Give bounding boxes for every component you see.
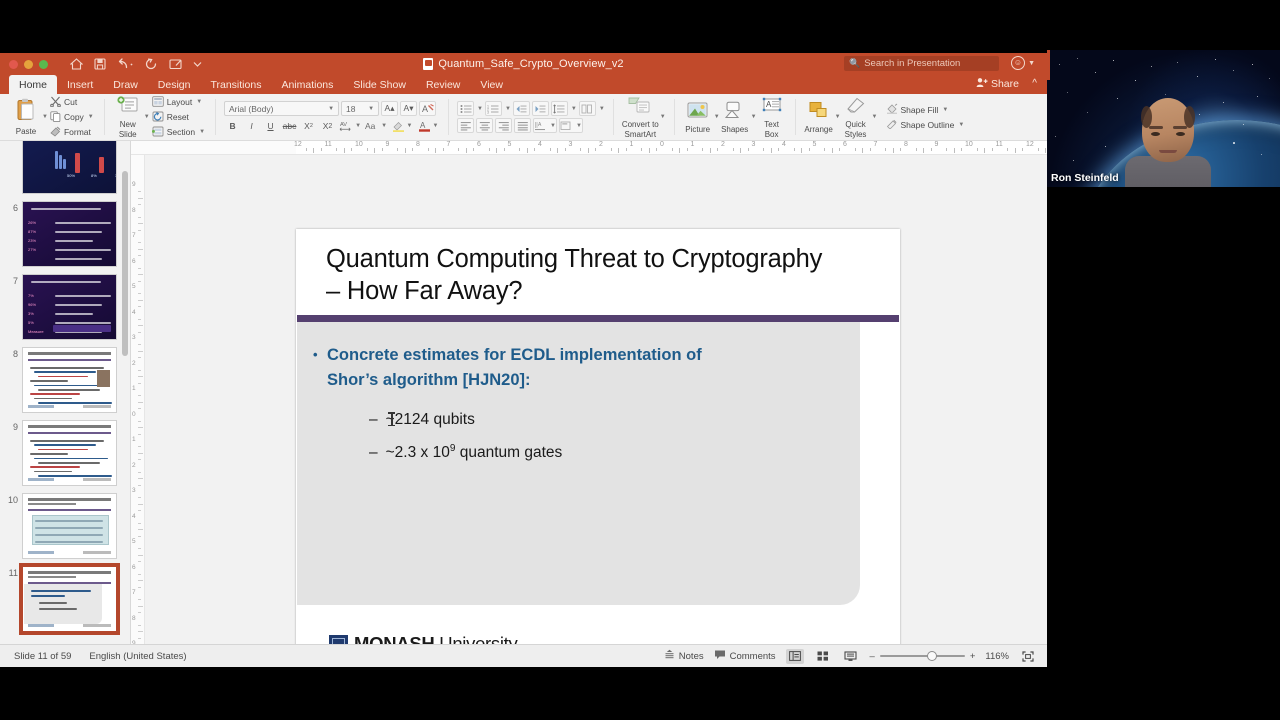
collapse-ribbon-icon[interactable]: ^ xyxy=(1032,78,1037,89)
thumbnail-table-row xyxy=(35,520,103,522)
thumbnail-footer xyxy=(83,405,111,408)
star xyxy=(1077,58,1078,59)
ruler-tick xyxy=(1022,148,1023,151)
line-spacing-caret-icon[interactable]: ▼ xyxy=(571,106,577,112)
ribbon-group-paragraph: ▼ 123 ▼ ▼ xyxy=(452,94,610,140)
redo-icon[interactable] xyxy=(145,58,158,70)
ruler-label: 12 xyxy=(294,141,302,148)
vertical-ruler-label: 3 xyxy=(132,334,136,341)
cut-button[interactable]: Cut xyxy=(48,96,96,109)
vertical-ruler-label: 6 xyxy=(132,258,136,265)
sub-bullet-text-2a: ~2.3 x 10 xyxy=(386,444,450,461)
thumbnail-line xyxy=(34,371,96,373)
ribbon-separator-1 xyxy=(104,99,105,135)
ribbon-group-arrange: Arrange ▼ Quick Styles ▼ xyxy=(799,94,972,140)
tab-home[interactable]: Home xyxy=(9,75,57,94)
ruler-tick xyxy=(550,148,551,151)
font-size-caret-icon[interactable]: ▼ xyxy=(368,106,374,112)
align-left-button[interactable] xyxy=(457,118,474,133)
ruler-tick xyxy=(870,148,871,151)
participant-video-panel[interactable]: Ron Steinfeld xyxy=(1047,50,1280,235)
ruler-tick xyxy=(923,148,924,153)
italic-button[interactable]: I xyxy=(243,118,260,133)
current-slide[interactable]: Quantum Computing Threat to Cryptography… xyxy=(296,229,900,667)
convert-to-smartart-icon xyxy=(628,95,652,119)
ruler-tick xyxy=(771,148,772,153)
home-icon[interactable] xyxy=(70,58,83,70)
thumbnail-row[interactable]: 8 xyxy=(0,347,131,413)
picture-button[interactable]: Picture xyxy=(683,94,713,140)
slide-thumbnail-6[interactable]: 26%87%23%27% xyxy=(22,201,117,267)
ribbon-separator-5 xyxy=(674,99,675,135)
convert-to-smartart-label-1: Convert to xyxy=(622,120,659,129)
text-box-label-2: Box xyxy=(765,130,779,139)
underline-button[interactable]: U xyxy=(262,118,279,133)
thumbnail-accent-rule xyxy=(28,359,111,361)
bullet-level1-line2: Shor’s algorithm [HJN20]: xyxy=(327,368,820,393)
font-color-caret-icon[interactable]: ▼ xyxy=(433,123,439,129)
vertical-ruler-tick xyxy=(138,580,143,581)
video-letterbox xyxy=(1047,187,1280,235)
vertical-ruler-tick xyxy=(138,638,141,639)
increase-indent-button[interactable] xyxy=(532,101,549,116)
slide-bullet-level2-qubits[interactable]: –~2124 qubits xyxy=(369,409,475,431)
thumbnail-text: Measure xyxy=(28,329,44,334)
thumbnail-line xyxy=(31,590,91,592)
vertical-ruler-tick xyxy=(138,383,141,384)
vertical-ruler-tick xyxy=(138,485,141,486)
ruler-label: 8 xyxy=(416,141,420,148)
change-case-button[interactable]: Aa ▼ xyxy=(364,118,388,133)
ruler-tick xyxy=(489,148,490,151)
vertical-ruler-tick xyxy=(138,625,141,626)
vertical-ruler-tick xyxy=(138,478,143,479)
quick-styles-label-2: Styles xyxy=(845,130,867,139)
vertical-ruler-label: 3 xyxy=(132,487,136,494)
font-size-select[interactable]: 18 ▼ xyxy=(341,101,379,116)
quick-access-toolbar[interactable] xyxy=(70,58,202,70)
powerpoint-window: Quantum_Safe_Crypto_Overview_v2 🔍 ☺ ▼ Ho… xyxy=(0,53,1047,667)
copy-icon xyxy=(50,111,61,124)
ruler-tick xyxy=(961,148,962,151)
copy-dropdown-caret-icon[interactable]: ▼ xyxy=(88,114,94,120)
zoom-button[interactable] xyxy=(39,60,48,69)
ribbon-tab-bar[interactable]: Home Insert Draw Design Transitions Anim… xyxy=(0,75,1047,94)
decrease-indent-button[interactable] xyxy=(513,101,530,116)
reset-icon xyxy=(152,111,164,124)
tab-transitions[interactable]: Transitions xyxy=(200,75,271,94)
vertical-ruler-tick xyxy=(138,421,141,422)
star xyxy=(1151,66,1152,67)
clear-formatting-button[interactable]: A xyxy=(419,101,436,116)
slide-bullet-level1[interactable]: • Concrete estimates for ECDL implementa… xyxy=(327,343,820,392)
thumbnail-row[interactable]: 10 xyxy=(0,493,131,559)
ribbon-group-font: Arial (Body) ▼ 18 ▼ A▴ A▾ A xyxy=(219,94,445,140)
vertical-ruler-tick xyxy=(138,529,143,530)
vertical-ruler-label: 1 xyxy=(132,436,136,443)
vertical-ruler-tick xyxy=(138,504,143,505)
vertical-ruler-tick xyxy=(138,408,141,409)
character-spacing-caret-icon[interactable]: ▼ xyxy=(355,123,361,129)
window-controls[interactable] xyxy=(9,60,48,69)
ruler-tick xyxy=(1007,148,1008,151)
vertical-ruler-tick xyxy=(138,510,141,511)
quick-styles-label-1: Quick xyxy=(845,120,865,129)
slide-counter[interactable]: Slide 11 of 59 xyxy=(14,651,71,662)
zoom-track[interactable] xyxy=(880,655,965,657)
copy-button[interactable]: Copy ▼ xyxy=(48,111,96,124)
vertical-ruler[interactable]: 9876543210123456789 xyxy=(131,155,145,644)
picture-label: Picture xyxy=(685,125,710,134)
zoom-knob[interactable] xyxy=(927,651,937,661)
vertical-ruler-label: 7 xyxy=(132,232,136,239)
vertical-ruler-tick xyxy=(138,446,141,447)
bullets-button[interactable] xyxy=(457,101,474,116)
font-name-select[interactable]: Arial (Body) ▼ xyxy=(224,101,339,116)
screen-root: Quantum_Safe_Crypto_Overview_v2 🔍 ☺ ▼ Ho… xyxy=(0,0,1280,720)
ruler-tick xyxy=(900,148,901,151)
bold-button[interactable]: B xyxy=(224,118,241,133)
text-direction-button[interactable]: A ▼ xyxy=(533,118,557,133)
ruler-tick xyxy=(839,148,840,151)
comments-button[interactable]: Comments xyxy=(714,649,776,663)
ruler-tick xyxy=(916,148,917,151)
ruler-tick xyxy=(519,148,520,151)
ruler-tick xyxy=(351,148,352,151)
vertical-ruler-tick xyxy=(138,344,141,345)
zoom-level[interactable]: 116% xyxy=(985,651,1009,662)
text-direction-caret-icon[interactable]: ▼ xyxy=(550,123,556,129)
star xyxy=(1223,102,1224,103)
status-left: Slide 11 of 59 English (United States) xyxy=(14,651,187,662)
thumbnail-row[interactable]: 9 xyxy=(0,420,131,486)
slide-canvas[interactable]: Quantum Computing Threat to Cryptography… xyxy=(145,155,1047,644)
justify-button[interactable] xyxy=(514,118,531,133)
format-painter-button[interactable]: Format xyxy=(48,126,96,139)
thumbnail-text: 7% xyxy=(28,293,34,298)
tab-design[interactable]: Design xyxy=(148,75,201,94)
change-case-caret-icon[interactable]: ▼ xyxy=(381,123,387,129)
slide-bullet-level2-gates[interactable]: –~2.3 x 109 quantum gates xyxy=(369,438,562,464)
ruler-tick xyxy=(717,148,718,151)
tab-slide-show[interactable]: Slide Show xyxy=(343,75,416,94)
zoom-in-button[interactable]: + xyxy=(970,651,976,662)
thumbnail-row[interactable]: 550%8%3% xyxy=(0,141,131,194)
share-label: Share xyxy=(991,78,1019,90)
ruler-tick xyxy=(687,148,688,151)
thumbnail-text: 8% xyxy=(91,173,97,178)
paragraph-row-bottom: A ▼ ▼ xyxy=(457,118,605,133)
thumbnail-bar xyxy=(63,159,66,169)
ruler-tick xyxy=(862,148,863,153)
thumbnail-line xyxy=(55,240,93,242)
thumbnail-row[interactable]: 626%87%23%27% xyxy=(0,201,131,267)
star xyxy=(1073,160,1074,161)
thumbnail-footer xyxy=(83,624,111,627)
shrink-font-button[interactable]: A▾ xyxy=(400,101,417,116)
character-spacing-button[interactable]: AV ▼ xyxy=(338,118,362,133)
star xyxy=(1197,76,1198,77)
layout-dropdown-caret-icon[interactable]: ▼ xyxy=(196,99,202,105)
tab-draw[interactable]: Draw xyxy=(103,75,148,94)
thumbnail-logo xyxy=(28,624,54,627)
reading-view-button[interactable] xyxy=(842,649,860,664)
slide-thumbnail-pane[interactable]: 550%8%3%626%87%23%27%77%96%3%5%Measure89… xyxy=(0,141,131,644)
tab-insert[interactable]: Insert xyxy=(57,75,103,94)
ruler-tick xyxy=(435,148,436,153)
vertical-ruler-label: 2 xyxy=(132,462,136,469)
ruler-tick xyxy=(611,148,612,151)
ruler-label: 12 xyxy=(1026,141,1034,148)
thumbnail-scrollbar[interactable] xyxy=(122,171,128,356)
ruler-label: 2 xyxy=(721,141,725,148)
search-in-presentation[interactable]: 🔍 xyxy=(844,56,999,71)
vertical-ruler-label: 4 xyxy=(132,309,136,316)
vertical-ruler-tick xyxy=(138,325,143,326)
thumbnail-text: 3% xyxy=(115,173,117,178)
shapes-button[interactable]: Shapes xyxy=(720,94,750,140)
align-text-button[interactable]: ▼ xyxy=(559,118,583,133)
thumbnail-title-line xyxy=(28,425,111,428)
quick-styles-button[interactable]: Quick Styles xyxy=(841,94,871,140)
save-icon[interactable] xyxy=(94,58,106,70)
thumbnail-line xyxy=(55,304,102,306)
tab-animations[interactable]: Animations xyxy=(271,75,343,94)
numbering-caret-icon[interactable]: ▼ xyxy=(505,106,511,112)
columns-caret-icon[interactable]: ▼ xyxy=(599,106,605,112)
shape-outline-button[interactable]: Shape Outline ▼ xyxy=(884,118,967,131)
slide-thumbnail-7[interactable]: 7%96%3%5%Measure xyxy=(22,274,117,340)
line-spacing-button[interactable] xyxy=(551,101,568,116)
notes-icon xyxy=(664,649,675,663)
quick-styles-caret-icon[interactable]: ▼ xyxy=(872,114,878,120)
star xyxy=(1233,142,1235,144)
arrange-button[interactable]: Arrange xyxy=(804,94,834,140)
vertical-ruler-label: 0 xyxy=(132,411,136,418)
thumbnail-line xyxy=(38,402,112,404)
vertical-ruler-tick xyxy=(138,459,141,460)
shape-fill-caret-icon[interactable]: ▼ xyxy=(942,107,948,113)
thumbnail-text: 87% xyxy=(28,229,36,234)
numbering-button[interactable]: 123 xyxy=(485,101,502,116)
vertical-ruler-tick xyxy=(138,587,141,588)
vertical-ruler-tick xyxy=(138,561,141,562)
ruler-tick xyxy=(466,148,467,153)
thumbnail-line xyxy=(39,608,77,610)
convert-to-smartart-button[interactable]: Convert to SmartArt xyxy=(622,94,659,140)
vertical-ruler-label: 7 xyxy=(132,589,136,596)
ruler-label: 10 xyxy=(965,141,973,148)
ruler-label: 7 xyxy=(874,141,878,148)
thumbnail-row[interactable]: 11 xyxy=(0,566,131,632)
thumbnail-footer xyxy=(83,551,111,554)
ruler-tick xyxy=(626,148,627,151)
ruler-label: 9 xyxy=(935,141,939,148)
window-title: Quantum_Safe_Crypto_Overview_v2 xyxy=(438,58,623,70)
ruler-tick xyxy=(641,148,642,151)
feedback-smiley-icon[interactable]: ☺ xyxy=(1011,56,1025,70)
scissors-icon xyxy=(50,96,61,109)
slide-sorter-button[interactable] xyxy=(814,649,832,664)
undo-icon[interactable] xyxy=(117,58,134,70)
thumbnail-title-line2 xyxy=(28,503,76,505)
ribbon-body: Paste ▼ Cut Copy ▼ xyxy=(0,94,1047,141)
zoom-out-button[interactable]: – xyxy=(870,651,875,662)
ruler-tick xyxy=(702,148,703,151)
ruler-tick xyxy=(412,148,413,151)
convert-to-smartart-label-2: SmartArt xyxy=(625,130,657,139)
slide-commands: Layout ▼ Reset Section ▼ xyxy=(150,94,207,140)
smiley-dropdown-caret-icon[interactable]: ▼ xyxy=(1028,60,1035,67)
reset-button[interactable]: Reset xyxy=(150,111,207,124)
layout-button[interactable]: Layout ▼ xyxy=(150,96,207,109)
ruler-label: 5 xyxy=(813,141,817,148)
ruler-tick xyxy=(977,148,978,151)
thumbnail-line xyxy=(30,453,68,455)
thumbnail-number: 8 xyxy=(0,347,22,359)
thumbnail-line xyxy=(55,295,111,297)
minimize-button[interactable] xyxy=(24,60,33,69)
ruler-tick xyxy=(832,148,833,153)
slide-thumbnail-10[interactable] xyxy=(22,493,117,559)
ruler-label: 4 xyxy=(782,141,786,148)
tab-view[interactable]: View xyxy=(470,75,513,94)
font-color-button[interactable]: A ▼ xyxy=(416,118,440,133)
ruler-tick xyxy=(794,148,795,151)
close-button[interactable] xyxy=(9,60,18,69)
participant-hair-left xyxy=(1141,106,1152,128)
star xyxy=(1095,72,1096,73)
fit-slide-button[interactable] xyxy=(1019,649,1037,664)
thumbnail-row[interactable]: 77%96%3%5%Measure xyxy=(0,274,131,340)
columns-button[interactable] xyxy=(579,101,596,116)
share-person-icon xyxy=(976,77,988,91)
vertical-ruler-tick xyxy=(138,281,141,282)
ruler-tick xyxy=(740,148,741,153)
thumbnail-title-line2 xyxy=(28,576,76,578)
thumbnail-line xyxy=(55,249,111,251)
shapes-label: Shapes xyxy=(721,125,748,134)
quick-styles-icon xyxy=(845,96,867,119)
thumbnail-number: 7 xyxy=(0,274,22,286)
ruler-tick xyxy=(984,148,985,153)
text-highlight-caret-icon[interactable]: ▼ xyxy=(407,123,413,129)
ruler-tick xyxy=(809,148,810,151)
thumbnail-line xyxy=(38,376,88,378)
thumbnail-logo xyxy=(28,405,54,408)
new-slide-button[interactable]: New Slide xyxy=(113,94,143,140)
ruler-tick xyxy=(618,148,619,153)
thumbnail-table-row xyxy=(35,541,103,543)
strikethrough-button[interactable]: abc xyxy=(281,118,298,133)
thumbnail-title-line xyxy=(31,208,101,210)
align-right-button[interactable] xyxy=(495,118,512,133)
shape-fill-button[interactable]: Shape Fill ▼ xyxy=(884,103,967,116)
slide-title-line2: – How Far Away? xyxy=(326,275,870,307)
svg-text:3: 3 xyxy=(487,110,489,113)
horizontal-ruler[interactable]: 1211109876543210123456789101112 xyxy=(131,141,1047,155)
slide-content-block[interactable]: • Concrete estimates for ECDL implementa… xyxy=(297,322,860,605)
paste-button[interactable]: Paste xyxy=(11,94,41,140)
vertical-ruler-tick xyxy=(138,427,143,428)
thumbnail-bar xyxy=(59,155,62,169)
thumbnail-line xyxy=(34,444,96,446)
thumbnail-highlight xyxy=(53,325,111,332)
sub-bullet-dash-2: – xyxy=(369,444,378,461)
vertical-ruler-tick xyxy=(138,230,141,231)
ruler-tick xyxy=(313,148,314,153)
slide-thumbnail-8[interactable] xyxy=(22,347,117,413)
normal-view-button[interactable] xyxy=(786,649,804,664)
shape-outline-caret-icon[interactable]: ▼ xyxy=(958,122,964,128)
thumbnail-photo xyxy=(97,370,110,387)
thumbnail-text: 27% xyxy=(28,247,36,252)
ruler-label: 7 xyxy=(447,141,451,148)
star xyxy=(1055,136,1056,137)
vertical-ruler-tick xyxy=(138,395,141,396)
shape-outline-icon xyxy=(886,118,898,131)
notes-button[interactable]: Notes xyxy=(664,649,704,663)
paragraph-row-top: ▼ 123 ▼ ▼ xyxy=(457,101,605,116)
presentation-file-icon xyxy=(423,58,433,70)
search-input[interactable] xyxy=(864,58,996,69)
superscript-button[interactable]: X2 xyxy=(300,118,317,133)
slide-title-line1: Quantum Computing Threat to Cryptography xyxy=(326,243,870,275)
tab-review[interactable]: Review xyxy=(416,75,470,94)
thumbnail-text: 3% xyxy=(28,311,34,316)
thumbnail-line xyxy=(30,440,104,442)
zoom-slider[interactable]: – + xyxy=(870,651,976,662)
section-button[interactable]: Section ▼ xyxy=(150,126,207,139)
ruler-tick xyxy=(504,148,505,151)
text-highlight-button[interactable]: ▼ xyxy=(390,118,414,133)
slide-thumbnail-11[interactable] xyxy=(22,566,117,632)
section-dropdown-caret-icon[interactable]: ▼ xyxy=(199,129,205,135)
slide-thumbnail-5[interactable]: 50%8%3% xyxy=(22,141,117,194)
thumbnail-line xyxy=(34,471,72,473)
bullets-caret-icon[interactable]: ▼ xyxy=(477,106,483,112)
ruler-tick xyxy=(496,148,497,153)
star xyxy=(1087,112,1088,113)
slide-thumbnail-9[interactable] xyxy=(22,420,117,486)
ruler-tick xyxy=(885,148,886,151)
ruler-tick xyxy=(367,148,368,151)
sub-bullet-text-2b: quantum gates xyxy=(455,444,562,461)
grow-font-button[interactable]: A▴ xyxy=(381,101,398,116)
participant-hair-right xyxy=(1184,106,1195,128)
text-box-button[interactable]: A Text Box xyxy=(757,94,787,140)
thumbnail-logo xyxy=(28,478,54,481)
align-text-caret-icon[interactable]: ▼ xyxy=(576,123,582,129)
customize-toolbar-icon[interactable] xyxy=(193,61,202,67)
subscript-button[interactable]: X2 xyxy=(319,118,336,133)
slide-title[interactable]: Quantum Computing Threat to Cryptography… xyxy=(326,243,870,307)
align-center-button[interactable] xyxy=(476,118,493,133)
vertical-ruler-tick xyxy=(138,306,141,307)
convert-to-smartart-caret-icon[interactable]: ▼ xyxy=(660,114,666,120)
vertical-ruler-label: 4 xyxy=(132,513,136,520)
vertical-ruler-tick xyxy=(138,548,141,549)
start-presentation-icon[interactable] xyxy=(169,58,182,70)
ruler-tick xyxy=(405,148,406,153)
language-indicator[interactable]: English (United States) xyxy=(89,651,186,662)
thumbnail-line xyxy=(34,458,108,460)
thumbnail-number: 6 xyxy=(0,201,22,213)
section-label: Section xyxy=(167,127,195,137)
share-button[interactable]: Share xyxy=(976,77,1019,91)
section-icon xyxy=(152,126,164,139)
font-name-caret-icon[interactable]: ▼ xyxy=(328,106,334,112)
